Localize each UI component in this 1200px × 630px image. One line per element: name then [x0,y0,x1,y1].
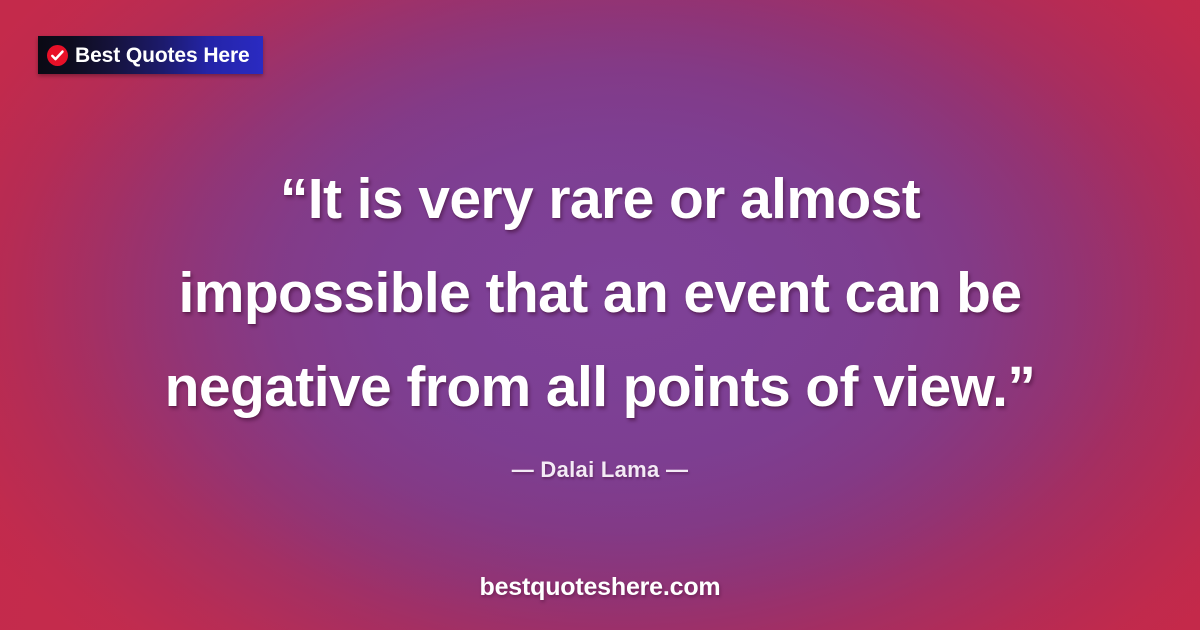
quote-line-1: “It is very rare or almost [0,152,1200,246]
brand-badge[interactable]: Best Quotes Here [38,36,263,74]
quote-poster: Best Quotes Here “It is very rare or alm… [0,0,1200,630]
check-circle-icon [47,45,68,66]
footer-website-url: bestquoteshere.com [0,573,1200,602]
brand-badge-label: Best Quotes Here [75,45,250,66]
quote-text-block: “It is very rare or almost impossible th… [0,152,1200,434]
quote-line-3: negative from all points of view.” [0,340,1200,434]
quote-attribution: — Dalai Lama — [0,457,1200,483]
quote-line-2: impossible that an event can be [0,246,1200,340]
